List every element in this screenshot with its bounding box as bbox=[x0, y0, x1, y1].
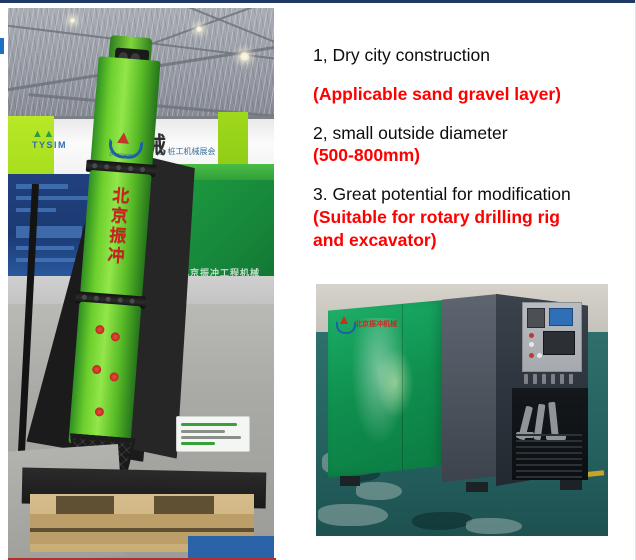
skid-foot bbox=[340, 476, 360, 486]
panel-vent-row bbox=[522, 374, 580, 384]
exhibition-hall-drilling-rig-photo: ▲▲ TYSIM 机械 ○ 桩工机械展会 北京振冲工程机械 bbox=[8, 8, 274, 560]
power-pack-side-panel bbox=[442, 294, 498, 482]
indicator-led-white bbox=[529, 342, 534, 347]
logo-chinese-text: 北京振冲机械 bbox=[355, 319, 397, 329]
ceiling-lamp bbox=[196, 26, 202, 32]
feature-3-note-b: and excavator) bbox=[313, 229, 613, 252]
radiator-louvers bbox=[516, 434, 582, 480]
tysim-logo-mark: ▲▲ bbox=[32, 128, 55, 140]
ceiling-lamp bbox=[70, 18, 75, 23]
left-edge-marker bbox=[0, 38, 4, 54]
booth-sign-subtext: ○ 桩工机械展会 bbox=[158, 146, 216, 157]
tysim-logo-text: TYSIM bbox=[32, 140, 67, 150]
slide-page: ▲▲ TYSIM 机械 ○ 桩工机械展会 北京振冲工程机械 bbox=[0, 0, 636, 560]
power-pack-green-cover: 北京振冲机械 bbox=[328, 300, 444, 478]
feature-1: 1, Dry city construction bbox=[313, 44, 613, 67]
feature-2: 2, small outside diameter bbox=[313, 122, 613, 145]
controller-display bbox=[543, 331, 575, 355]
indicator-led-red bbox=[529, 333, 534, 338]
floor-blue-strip bbox=[188, 536, 274, 560]
feature-3: 3. Great potential for modification bbox=[313, 183, 613, 206]
exhibit-placard bbox=[176, 416, 250, 452]
feature-3-note-a: (Suitable for rotary drilling rig bbox=[313, 206, 613, 229]
top-divider bbox=[0, 0, 636, 3]
zhenchong-brand-logo: 北京振冲机械 bbox=[336, 316, 406, 332]
zhenchong-brand-logo: ZHENCHONG bbox=[107, 131, 139, 157]
ceiling-lamp bbox=[240, 52, 249, 61]
panel-highlight bbox=[376, 348, 414, 418]
tysim-booth-logo: ▲▲ TYSIM bbox=[32, 128, 67, 150]
control-panel bbox=[522, 302, 582, 372]
hammer-lower-body bbox=[68, 301, 141, 447]
blue-display-screen bbox=[549, 308, 573, 326]
feature-list: 1, Dry city construction (Applicable san… bbox=[313, 44, 613, 251]
skid-foot bbox=[466, 482, 488, 492]
pressure-gauge bbox=[527, 308, 545, 328]
feature-1-note: (Applicable sand gravel layer) bbox=[313, 83, 613, 106]
power-pack-unit-photo: 北京振冲机械 bbox=[316, 284, 608, 536]
indicator-led-red bbox=[529, 353, 534, 358]
indicator-led-white bbox=[537, 353, 542, 358]
skid-foot bbox=[560, 480, 582, 490]
feature-2-note: (500-800mm) bbox=[313, 144, 613, 167]
